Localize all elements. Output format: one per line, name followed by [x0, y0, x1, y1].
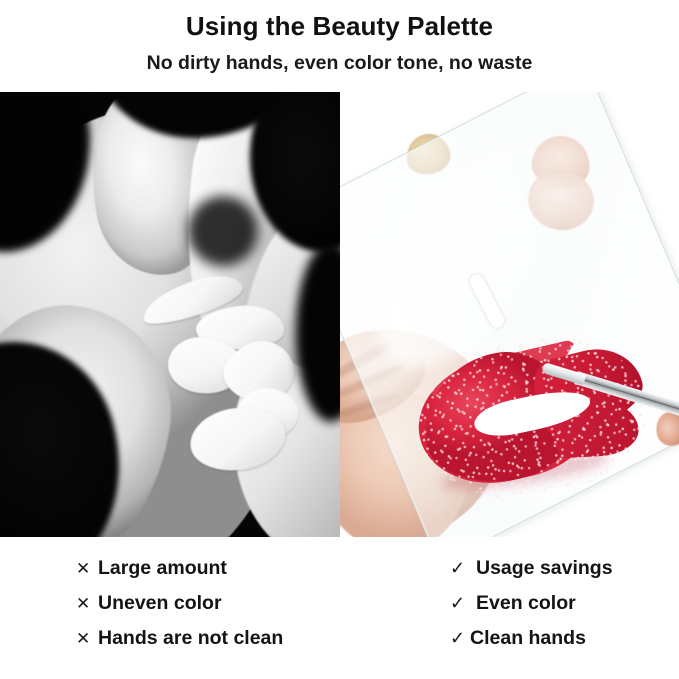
photo-comparison-band — [0, 92, 679, 537]
list-item: ✕ Hands are not clean — [76, 621, 376, 656]
page-subtitle: No dirty hands, even color tone, no wast… — [0, 51, 679, 75]
hand-with-cream-photo — [0, 92, 340, 537]
pros-item-label: Clean hands — [470, 621, 586, 656]
list-item: ✓ Even color — [450, 586, 679, 621]
cross-icon: ✕ — [76, 586, 98, 621]
cons-column: ✕ Large amount ✕ Uneven color ✕ Hands ar… — [76, 551, 376, 656]
beauty-palette-infographic: Using the Beauty Palette No dirty hands,… — [0, 0, 679, 679]
list-item: ✕ Uneven color — [76, 586, 376, 621]
palette-with-lipstick-photo — [340, 92, 679, 537]
photo-shadow — [188, 196, 258, 266]
pros-item-label: Even color — [476, 586, 576, 621]
page-title: Using the Beauty Palette — [0, 11, 679, 41]
lipstick-swatch — [407, 321, 659, 515]
comparison-lists: ✕ Large amount ✕ Uneven color ✕ Hands ar… — [0, 537, 679, 679]
pros-item-label: Usage savings — [476, 551, 613, 586]
list-item: ✓ Usage savings — [450, 551, 679, 586]
header: Using the Beauty Palette No dirty hands,… — [0, 0, 679, 92]
check-icon: ✓ — [450, 621, 470, 656]
cons-item-label: Uneven color — [98, 586, 222, 621]
check-icon: ✓ — [450, 551, 476, 586]
cross-icon: ✕ — [76, 551, 98, 586]
list-item: ✕ Large amount — [76, 551, 376, 586]
cross-icon: ✕ — [76, 621, 98, 656]
cons-item-label: Large amount — [98, 551, 227, 586]
cons-item-label: Hands are not clean — [98, 621, 283, 656]
pros-column: ✓ Usage savings ✓ Even color ✓ Clean han… — [450, 551, 679, 656]
list-item: ✓ Clean hands — [450, 621, 679, 656]
check-icon: ✓ — [450, 586, 476, 621]
